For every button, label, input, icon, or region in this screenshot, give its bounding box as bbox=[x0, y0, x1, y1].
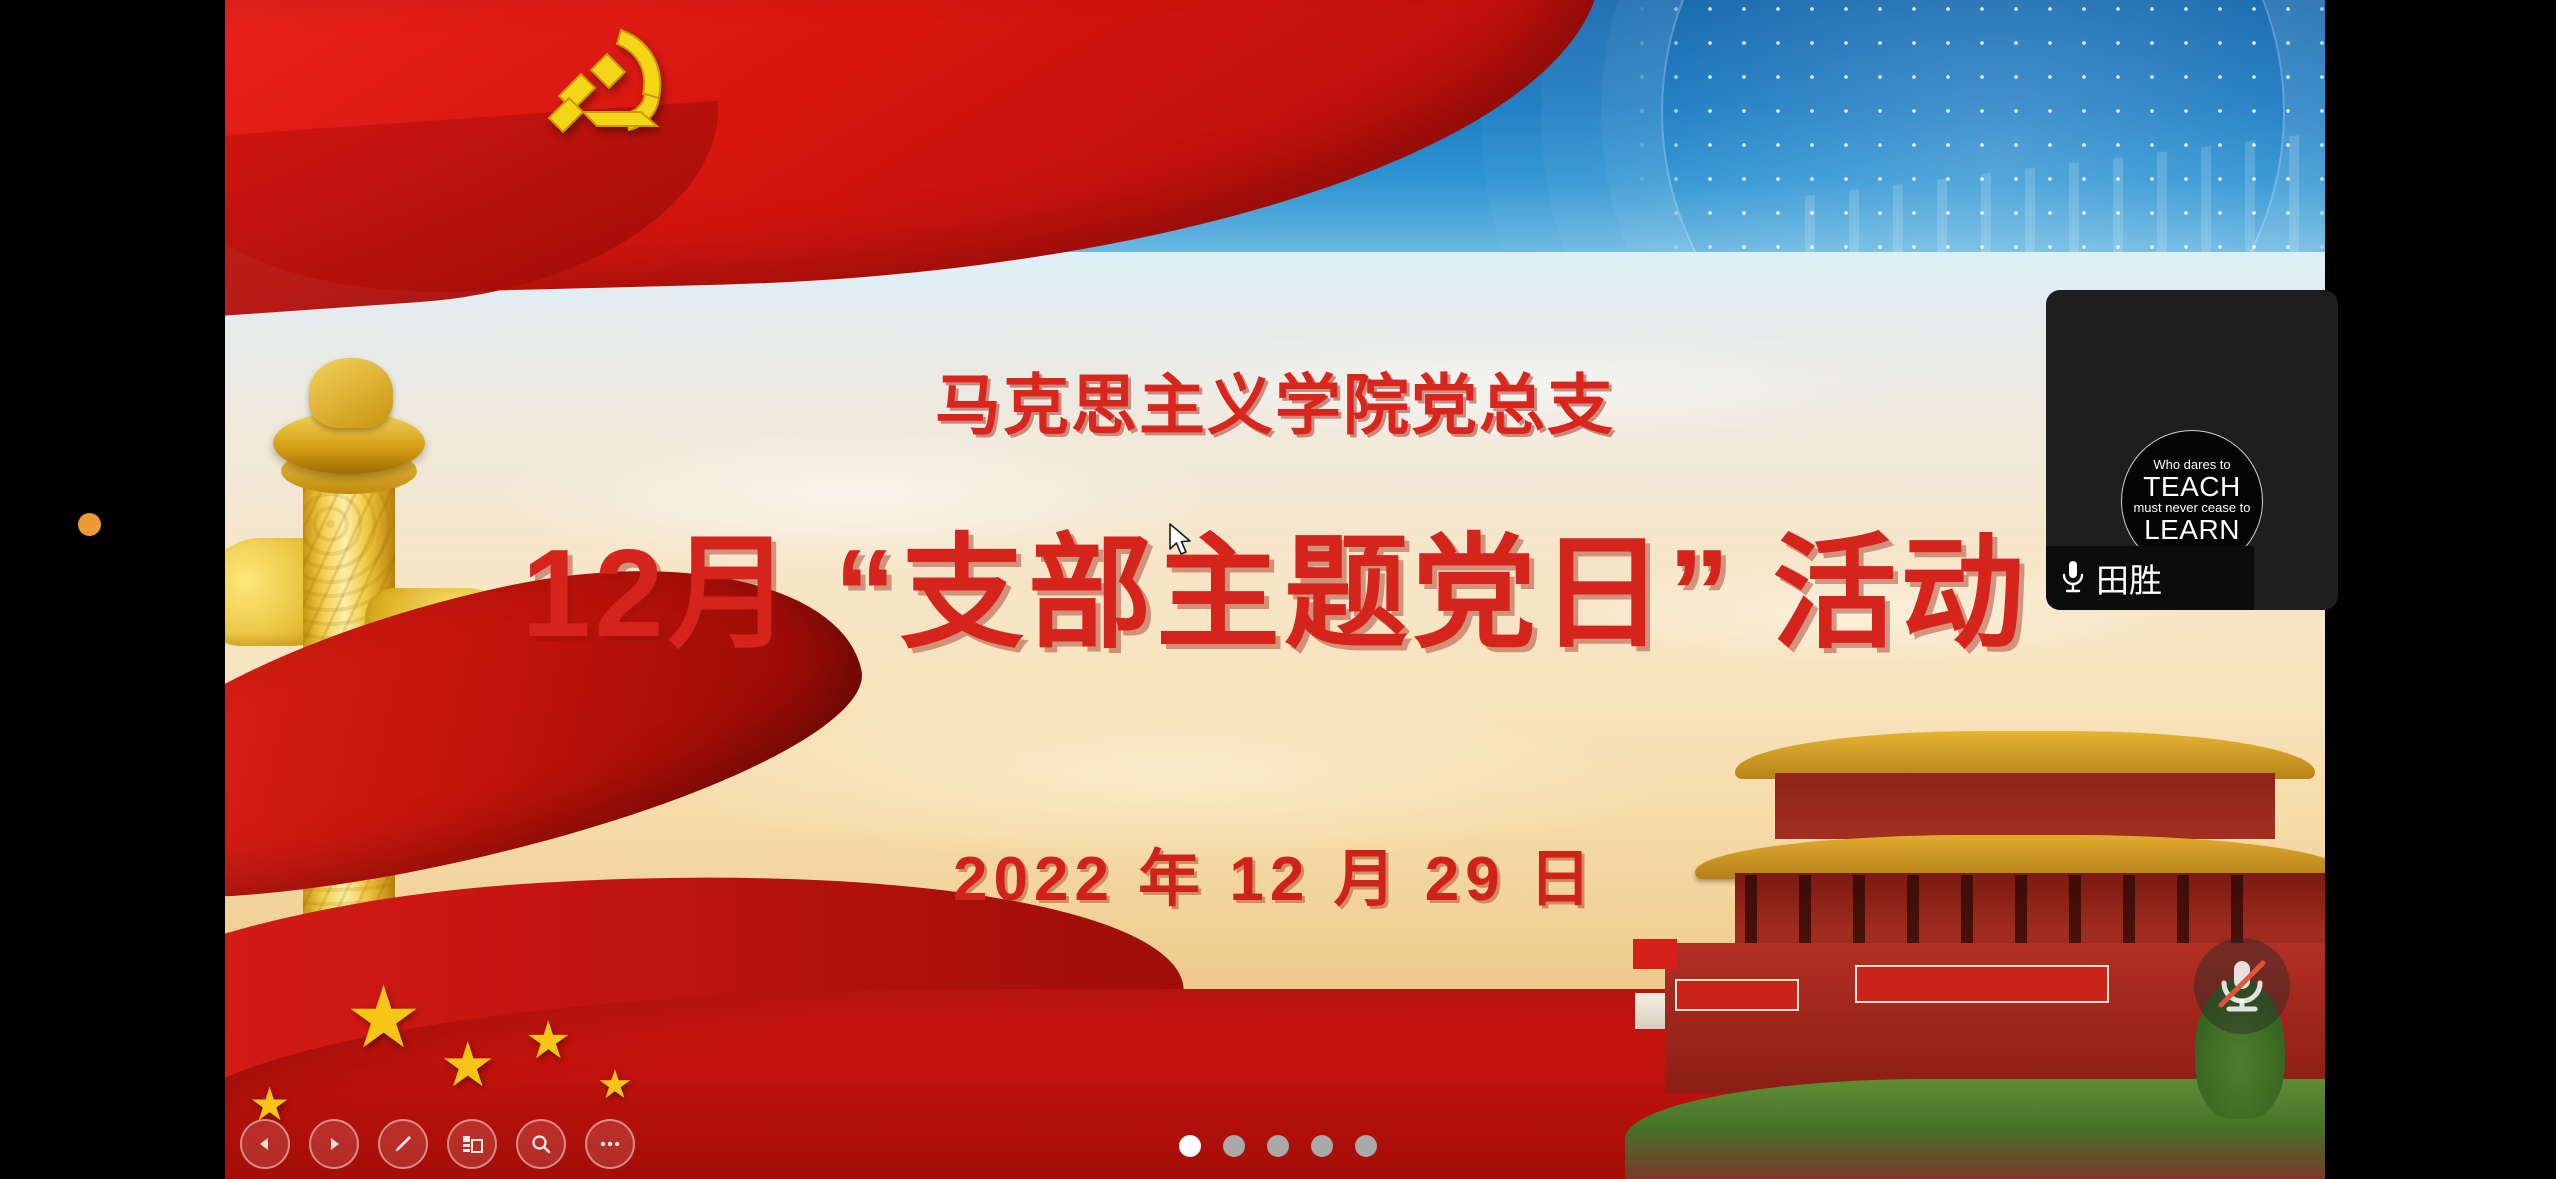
avatar-line-2: TEACH bbox=[2143, 472, 2240, 501]
tiananmen-red-flag bbox=[1633, 939, 1677, 969]
slide-title: 12月 “支部主题党日” 活动 bbox=[225, 492, 2325, 672]
slide-date: 2022 年 12 月 29 日 bbox=[225, 828, 2325, 918]
avatar-line-1: Who dares to bbox=[2153, 458, 2230, 472]
presentation-slide[interactable]: ★ ★ ★ ★ ★ 马克思主义学院党总支 12月 “支部主题党日” 活动 202… bbox=[225, 0, 2325, 1179]
participant-name: 田胜 bbox=[2096, 554, 2162, 602]
tiananmen-slogan-banner bbox=[1855, 965, 2109, 1003]
participant-video-tile[interactable]: Who dares to TEACH must never cease to L… bbox=[2046, 290, 2338, 610]
tiananmen-slogan-banner-left bbox=[1675, 979, 1799, 1011]
gold-star: ★ bbox=[440, 1035, 496, 1097]
pagination-dot-2[interactable] bbox=[1223, 1135, 1245, 1157]
gold-star: ★ bbox=[345, 975, 422, 1061]
mic-mute-badge[interactable] bbox=[2194, 938, 2290, 1034]
pagination-dot-4[interactable] bbox=[1311, 1135, 1333, 1157]
microphone-icon bbox=[2060, 559, 2086, 597]
gold-star: ★ bbox=[525, 1015, 572, 1067]
hammer-and-sickle-emblem bbox=[525, 14, 695, 164]
gold-star: ★ bbox=[597, 1065, 633, 1105]
avatar-line-4: LEARN bbox=[2144, 515, 2240, 544]
slide-pagination bbox=[0, 1135, 2556, 1157]
pagination-dot-5[interactable] bbox=[1355, 1135, 1377, 1157]
avatar-line-3: must never cease to bbox=[2133, 501, 2250, 515]
meeting-screen: ★ ★ ★ ★ ★ 马克思主义学院党总支 12月 “支部主题党日” 活动 202… bbox=[0, 0, 2556, 1179]
slide-subtitle: 马克思主义学院党总支 bbox=[225, 352, 2325, 448]
microphone-muted-icon bbox=[2213, 955, 2271, 1017]
pagination-dot-3[interactable] bbox=[1267, 1135, 1289, 1157]
participant-name-bar: 田胜 bbox=[2046, 546, 2254, 610]
recording-indicator bbox=[78, 513, 101, 536]
pagination-dot-1[interactable] bbox=[1179, 1135, 1201, 1157]
